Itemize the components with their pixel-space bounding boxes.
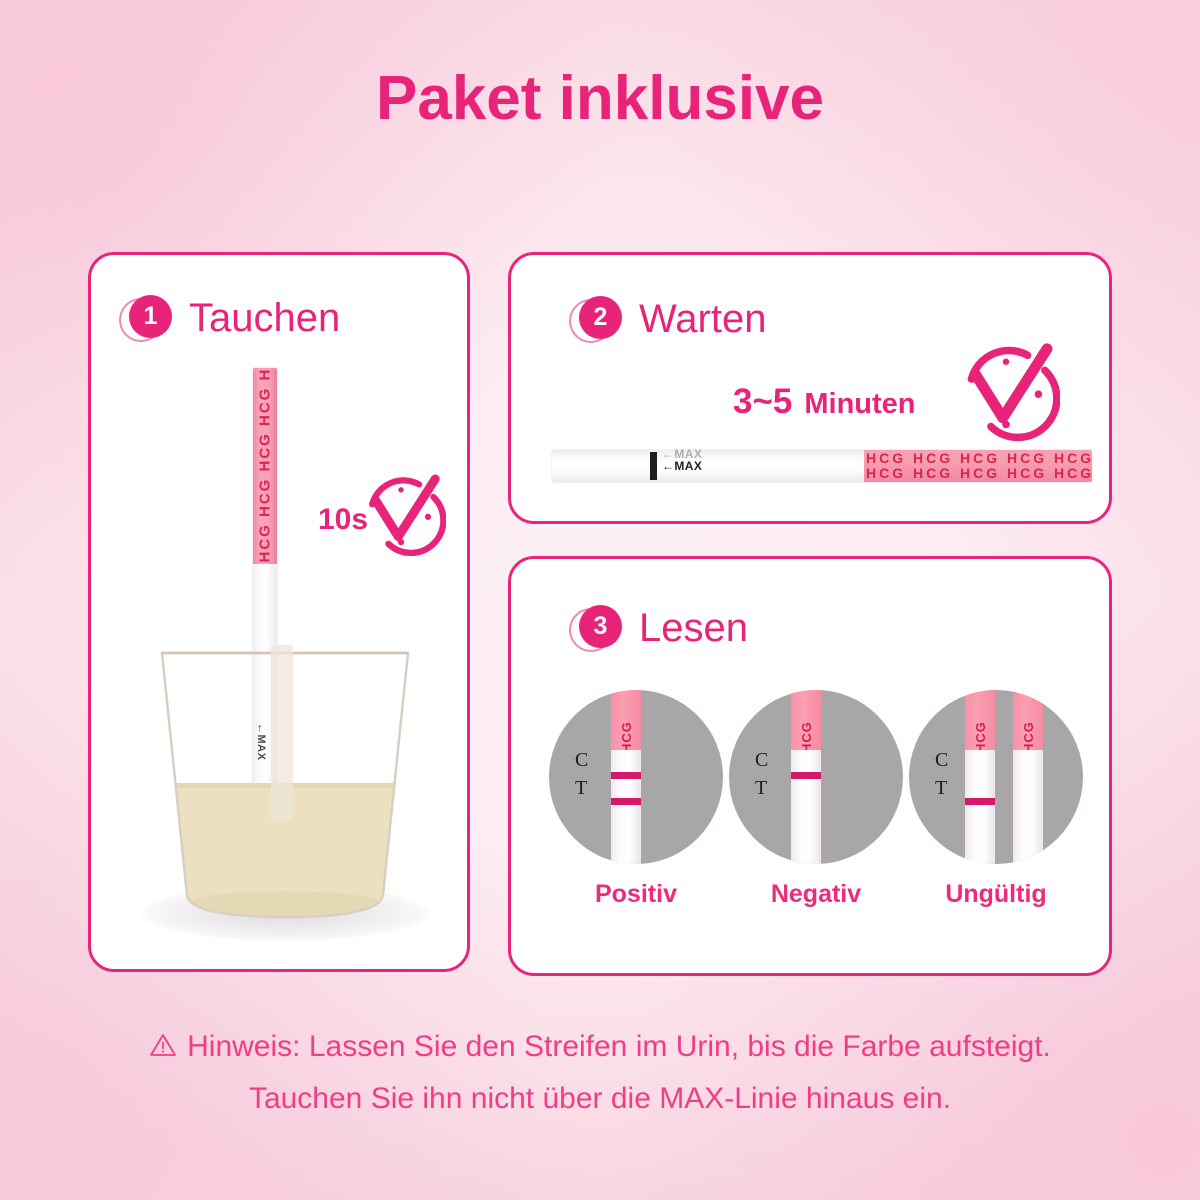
step-header-2: 2 Warten — [576, 296, 766, 342]
page-title: Paket inklusive — [0, 68, 1200, 130]
step-number-badge-3: 3 — [576, 605, 622, 651]
result-strip-b: HCG — [1013, 690, 1043, 864]
badge-number: 2 — [579, 296, 622, 339]
wait-duration: 3~5Minuten — [733, 384, 916, 419]
footer-note-text-1: Hinweis: Lassen Sie den Streifen im Urin… — [187, 1030, 1051, 1063]
warning-triangle-icon — [149, 1024, 177, 1074]
strip-max-bar — [650, 452, 657, 480]
result-item-negative: CT HCG Negativ — [726, 690, 906, 864]
cup-svg — [140, 645, 430, 955]
strip-hcg-zone: HCG — [611, 690, 641, 750]
result-circle: CT HCG — [729, 690, 903, 864]
wait-duration-value: 3~5 — [733, 382, 792, 421]
result-label-positive: Positiv — [546, 882, 726, 907]
result-circle: CT HCG — [549, 690, 723, 864]
strip-hcg-zone: HCG — [1013, 690, 1043, 750]
clock-check-icon — [952, 338, 1060, 446]
result-ct-marks: CT — [755, 746, 768, 802]
strip-hcg-zone: HCG HCG HCG HCG HCG HCG HCG HCG HCG HCG … — [864, 450, 1092, 482]
strip-hcg-text: HCG — [620, 690, 634, 750]
footer-note-line-2: Tauchen Sie ihn nicht über die MAX-Linie… — [0, 1074, 1200, 1124]
result-strip: HCG — [611, 690, 641, 864]
test-line — [611, 798, 641, 805]
result-label-invalid: Ungültig — [906, 882, 1086, 907]
step-number-badge-2: 2 — [576, 296, 622, 342]
wait-duration-unit: Minuten — [804, 388, 915, 420]
control-line — [791, 772, 821, 779]
strip-hcg-text: HCG — [974, 690, 988, 750]
footer-note: Hinweis: Lassen Sie den Streifen im Urin… — [0, 1022, 1200, 1124]
result-item-invalid: CT HCG HCG Ungültig — [906, 690, 1086, 864]
step-header-3: 3 Lesen — [576, 605, 748, 651]
result-ct-marks: CT — [575, 746, 588, 802]
step-number-badge-1: 1 — [126, 295, 172, 341]
result-label-negative: Negativ — [726, 882, 906, 907]
badge-number: 1 — [129, 295, 172, 338]
strip-hcg-text: HCG HCG HCG HCG HCG HCG HCG HCG — [866, 451, 1092, 466]
page-root: Paket inklusive 1 Tauchen HCG HCG HCG HC… — [0, 0, 1200, 1200]
result-item-positive: CT HCG Positiv — [546, 690, 726, 864]
strip-max-label: ←MAX — [662, 459, 702, 473]
result-strip: HCG — [791, 690, 821, 864]
urine-cup — [140, 645, 430, 955]
clock-check-icon — [356, 470, 446, 560]
result-circle: CT HCG HCG — [909, 690, 1083, 864]
result-legend: CT HCG Positiv CT HCG — [530, 690, 1096, 940]
step-label-3: Lesen — [639, 608, 748, 648]
step-label-1: Tauchen — [189, 298, 340, 338]
strip-hcg-zone: HCG — [791, 690, 821, 750]
strip-hcg-text: HCG HCG HCG HCG HCG HCG HCG HCG — [259, 368, 272, 563]
result-strip-a: HCG — [965, 690, 995, 864]
strip-hcg-text: HCG — [800, 690, 814, 750]
step-header-1: 1 Tauchen — [126, 295, 340, 341]
strip-hcg-text-2: HCG HCG HCG HCG HCG HCG HCG HCG — [866, 466, 1092, 481]
footer-note-line-1: Hinweis: Lassen Sie den Streifen im Urin… — [0, 1022, 1200, 1074]
strip-hcg-zone: HCG HCG HCG HCG HCG HCG HCG HCG — [253, 368, 277, 564]
strip-hcg-zone: HCG — [965, 690, 995, 750]
badge-number: 3 — [579, 605, 622, 648]
strip-hcg-text: HCG — [1022, 690, 1036, 750]
result-ct-marks: CT — [935, 746, 948, 802]
test-strip-horizontal: HCG HCG HCG HCG HCG HCG HCG HCG HCG HCG … — [552, 450, 1092, 482]
control-line — [611, 772, 641, 779]
test-line — [965, 798, 995, 805]
step-label-2: Warten — [639, 299, 766, 339]
